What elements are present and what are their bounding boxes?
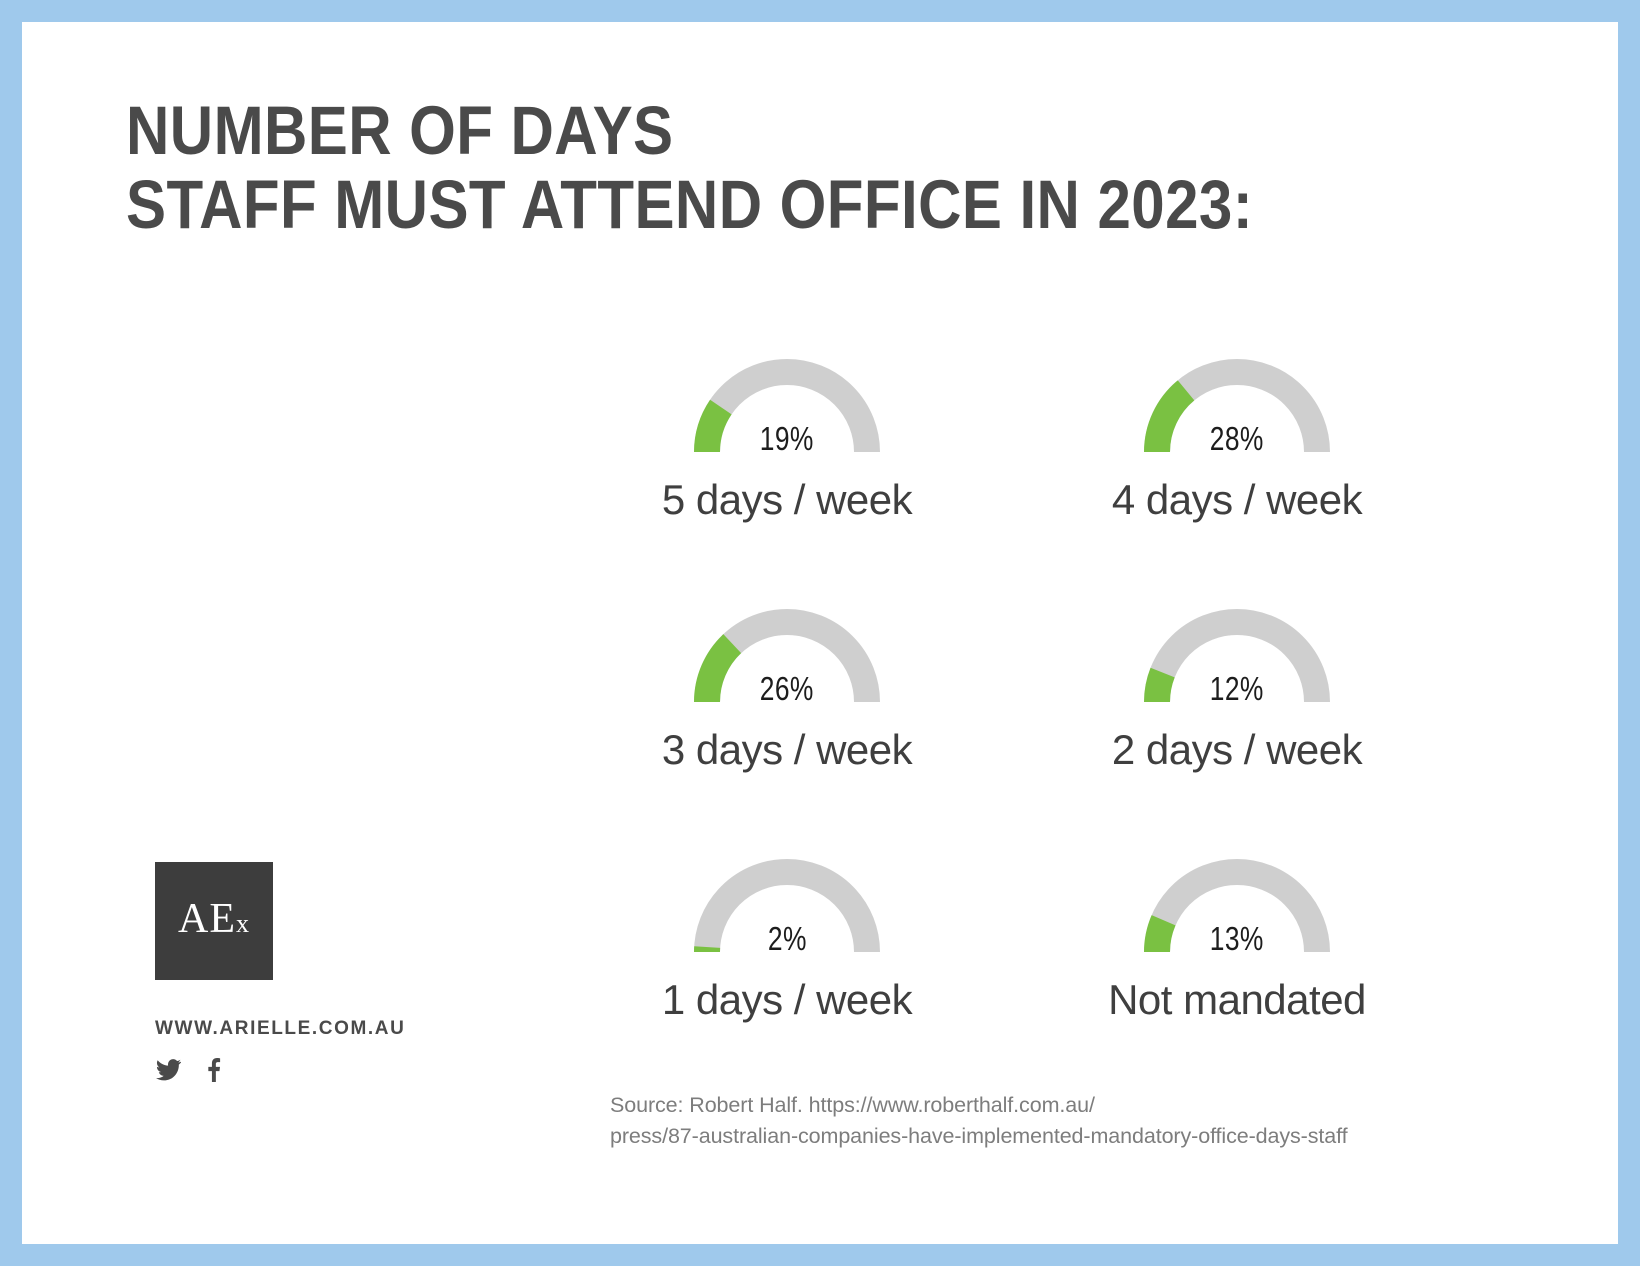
gauge-track-arc — [1157, 872, 1317, 952]
gauge-item-1-day: 2% 1 days / week — [562, 852, 1012, 1102]
logo: AEx — [155, 862, 273, 980]
source-note: Source: Robert Half. https://www.roberth… — [610, 1090, 1510, 1152]
gauge-arc-svg — [687, 352, 887, 462]
gauge-row-1: 19% 5 days / week 28% 4 days / week — [562, 352, 1462, 602]
gauge-item-2-days: 12% 2 days / week — [1012, 602, 1462, 852]
gauge-category-label: 4 days / week — [1012, 476, 1462, 524]
source-line-2: press/87-australian-companies-have-imple… — [610, 1121, 1510, 1152]
gauge-category-label: 5 days / week — [562, 476, 1012, 524]
gauge-row-2: 26% 3 days / week 12% 2 days / week — [562, 602, 1462, 852]
gauge-track-arc — [1157, 622, 1317, 702]
logo-wordmark: AEx — [178, 898, 250, 945]
infographic-canvas: NUMBER OF DAYS STAFF MUST ATTEND OFFICE … — [22, 22, 1618, 1244]
gauge-5-days: 19% — [687, 352, 887, 462]
gauge-track-arc — [707, 372, 867, 452]
gauge-row-3: 2% 1 days / week 13% Not mandated — [562, 852, 1462, 1102]
gauge-item-5-days: 19% 5 days / week — [562, 352, 1012, 602]
gauge-category-label: 1 days / week — [562, 976, 1012, 1024]
gauge-arc-svg — [1137, 602, 1337, 712]
gauge-category-label: 2 days / week — [1012, 726, 1462, 774]
gauge-track-arc — [707, 872, 867, 952]
gauge-2-days: 12% — [1137, 602, 1337, 712]
source-line-1: Source: Robert Half. https://www.roberth… — [610, 1090, 1510, 1121]
facebook-icon[interactable] — [207, 1058, 221, 1082]
website-url[interactable]: WWW.ARIELLE.COM.AU — [155, 1018, 405, 1040]
gauge-not-mandated: 13% — [1137, 852, 1337, 962]
gauge-item-4-days: 28% 4 days / week — [1012, 352, 1462, 602]
gauge-item-3-days: 26% 3 days / week — [562, 602, 1012, 852]
gauge-arc-svg — [1137, 852, 1337, 962]
gauge-chart-grid: 19% 5 days / week 28% 4 days / week — [562, 352, 1462, 1102]
title-line-2: STAFF MUST ATTEND OFFICE IN 2023: — [126, 168, 1257, 242]
logo-sub-letter: x — [236, 909, 250, 938]
gauge-category-label: 3 days / week — [562, 726, 1012, 774]
gauge-4-days: 28% — [1137, 352, 1337, 462]
gauge-1-day: 2% — [687, 852, 887, 962]
gauge-arc-svg — [687, 602, 887, 712]
gauge-item-not-mandated: 13% Not mandated — [1012, 852, 1462, 1102]
twitter-icon[interactable] — [155, 1059, 181, 1081]
gauge-arc-svg — [687, 852, 887, 962]
logo-main-letters: AE — [178, 896, 236, 942]
social-links — [155, 1058, 405, 1082]
gauge-category-label: Not mandated — [1012, 976, 1462, 1024]
page-title: NUMBER OF DAYS STAFF MUST ATTEND OFFICE … — [126, 94, 1426, 242]
title-line-1: NUMBER OF DAYS — [126, 94, 1257, 168]
brand-block: AEx WWW.ARIELLE.COM.AU — [155, 862, 405, 1082]
gauge-3-days: 26% — [687, 602, 887, 712]
gauge-arc-svg — [1137, 352, 1337, 462]
